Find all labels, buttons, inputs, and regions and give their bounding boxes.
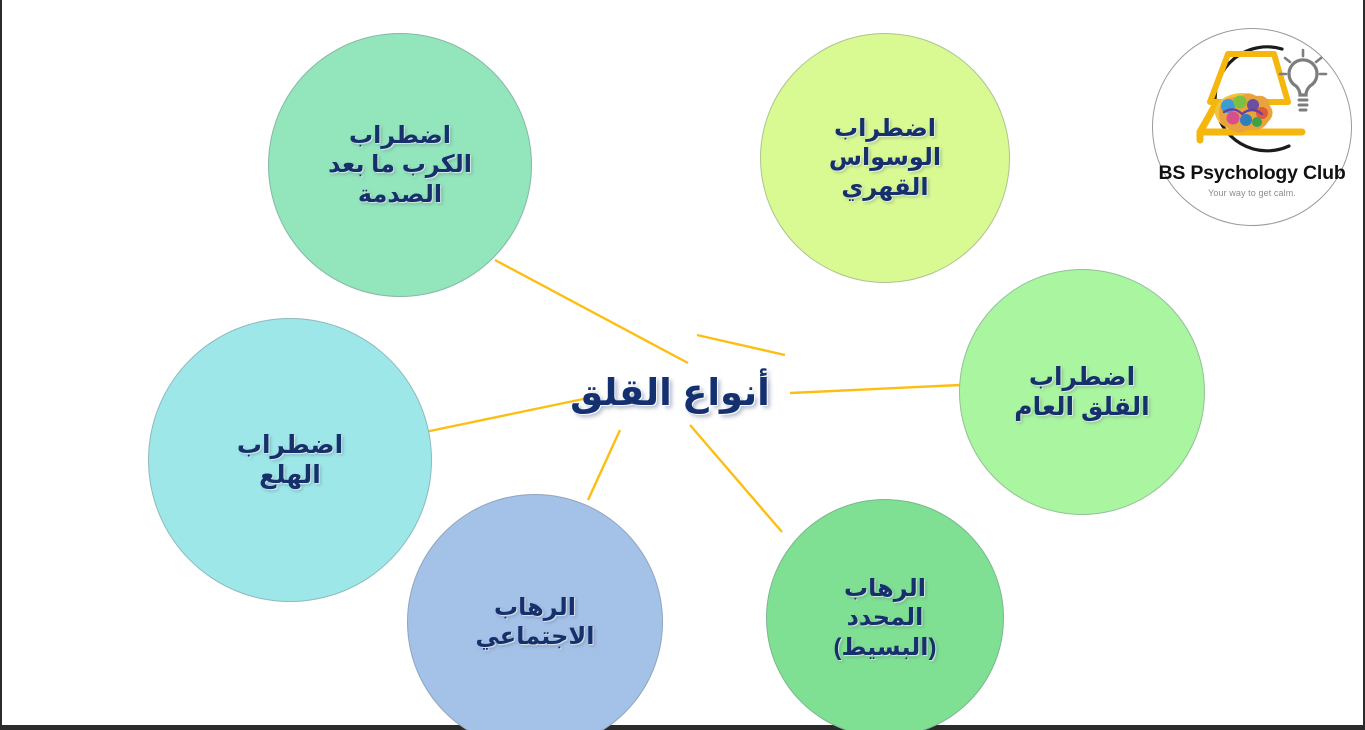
brand-logo[interactable]: BS Psychology Club Your way to get calm. (1152, 28, 1352, 226)
node-label-ptsd: اضطراب الكرب ما بعد الصدمة (320, 121, 480, 209)
node-circle-specific-phobia[interactable]: الرهاب المحدد (البسيط) (766, 499, 1004, 730)
node-circle-ocd[interactable]: اضطراب الوسواس القهري (760, 33, 1010, 283)
node-label-specific-phobia: الرهاب المحدد (البسيط) (826, 574, 945, 662)
slide-canvas: اضطراب الكرب ما بعد الصدمةاضطراب الوسواس… (0, 0, 1365, 730)
node-circle-ptsd[interactable]: اضطراب الكرب ما بعد الصدمة (268, 33, 532, 297)
hub-to-specific-phobia (690, 425, 782, 532)
node-circle-gad[interactable]: اضطراب القلق العام (959, 269, 1205, 515)
node-label-panic: اضطراب الهلع (229, 430, 351, 491)
node-circle-panic[interactable]: اضطراب الهلع (148, 318, 432, 602)
node-label-gad: اضطراب القلق العام (1006, 362, 1157, 423)
lamp-brain-bulb-icon (1170, 40, 1334, 164)
hub-to-social-phobia (588, 430, 620, 500)
center-hub-label: أنواع القلق (570, 373, 770, 414)
hub-to-ocd (697, 335, 785, 355)
hub-to-ptsd (495, 260, 688, 363)
node-label-ocd: اضطراب الوسواس القهري (821, 114, 949, 202)
logo-tagline-text: Your way to get calm. (1152, 188, 1352, 198)
logo-title-text: BS Psychology Club (1152, 162, 1352, 185)
node-label-social-phobia: الرهاب الاجتماعي (468, 593, 603, 652)
center-hub[interactable]: أنواع القلق (520, 363, 820, 423)
